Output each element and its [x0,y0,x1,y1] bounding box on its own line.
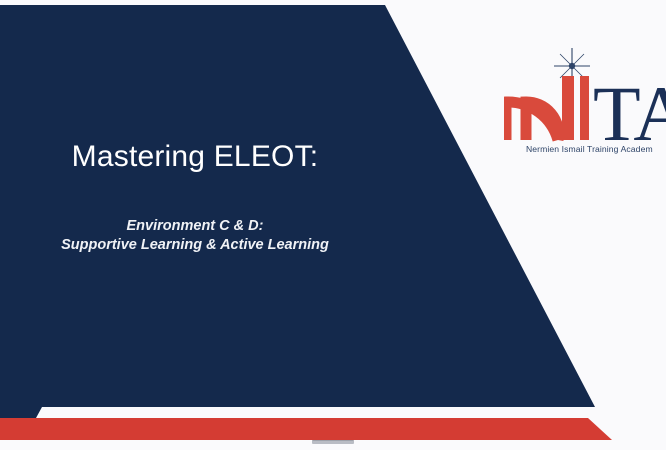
nita-logo: TA Nermien Ismail Training Academ [504,48,666,166]
nita-logo-graphic: TA [504,48,666,148]
logo-tagline: Nermien Ismail Training Academ [526,144,666,154]
slide-canvas: Mastering ELEOT: Environment C & D: Supp… [0,0,666,450]
subtitle-line-2: Supportive Learning & Active Learning [6,236,384,256]
bottom-scroll-handle[interactable] [312,440,354,444]
logo-i-bar [580,76,589,140]
subtitle-line-1: Environment C & D: [6,217,384,237]
page-title: Mastering ELEOT: [0,140,390,175]
slide-subtitle: Environment C & D: Supportive Learning &… [0,175,390,256]
logo-n-mark [506,102,559,140]
logo-wordmark: TA [593,70,666,148]
red-stripe [0,418,612,440]
title-block: Mastering ELEOT: Environment C & D: Supp… [0,140,390,256]
logo-n-leg [562,76,574,140]
